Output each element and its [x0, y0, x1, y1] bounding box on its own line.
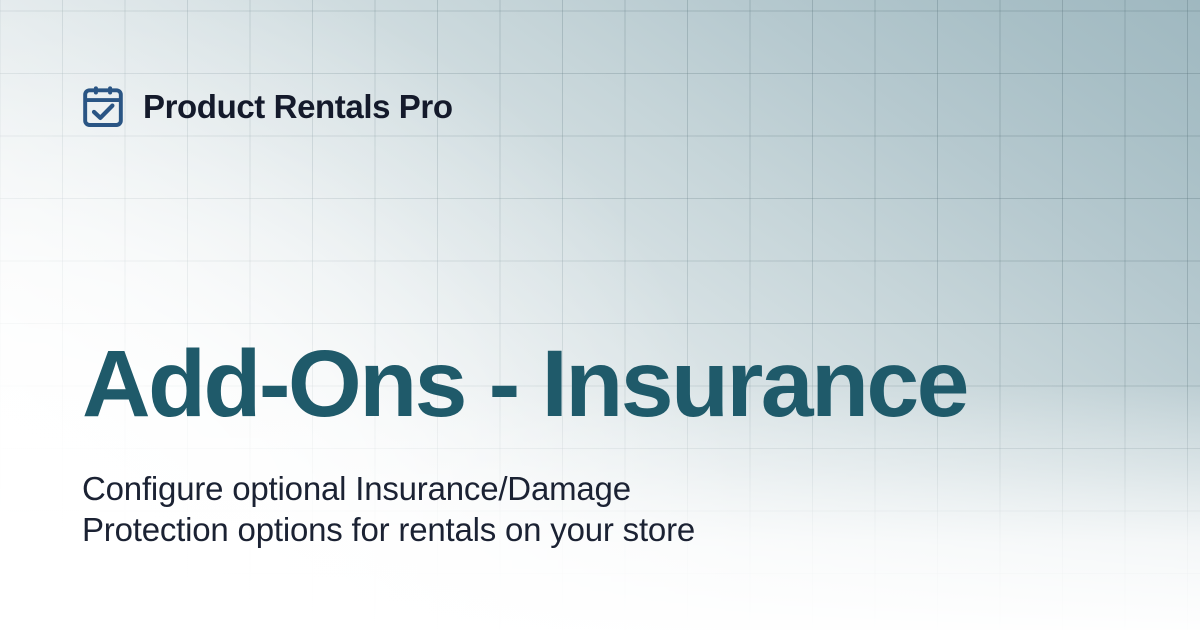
brand-lockup: Product Rentals Pro — [80, 79, 453, 133]
hero-banner: Product Rentals Pro Add-Ons - Insurance … — [0, 0, 1200, 630]
calendar-check-icon — [80, 83, 126, 129]
page-title: Add-Ons - Insurance — [82, 337, 967, 432]
page-subtitle-line-1: Configure optional Insurance/Damage — [82, 468, 695, 509]
page-subtitle: Configure optional Insurance/Damage Prot… — [82, 468, 695, 550]
page-subtitle-line-2: Protection options for rentals on your s… — [82, 509, 695, 550]
brand-name: Product Rentals Pro — [143, 90, 453, 123]
